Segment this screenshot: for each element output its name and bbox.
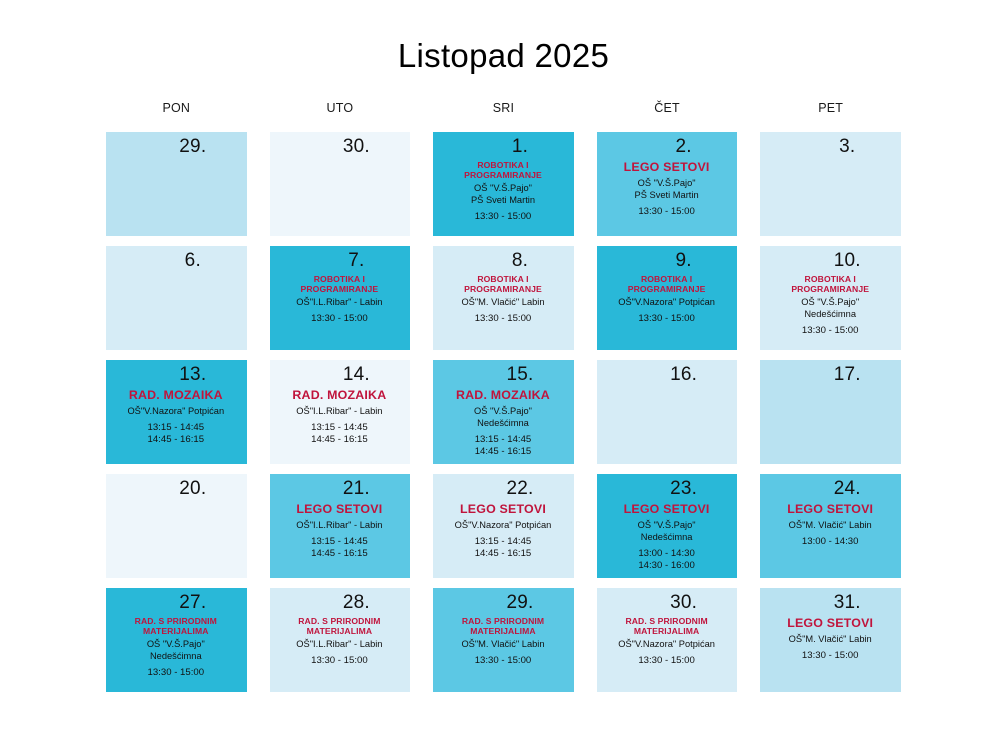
page-title: Listopad 2025	[0, 0, 1007, 74]
day-number: 28.	[276, 591, 404, 615]
event-location: OŠ"V.Nazora" Potpićan	[603, 638, 731, 650]
event-time: 13:30 - 15:00	[276, 313, 404, 326]
weekday-header-čet: ČET	[597, 101, 738, 122]
event-time: 14:45 - 16:15	[439, 446, 567, 459]
weekday-header-sri: SRI	[433, 101, 574, 122]
day-number: 29.	[439, 591, 567, 615]
event-location: OŠ"V.Nazora" Potpićan	[112, 405, 240, 417]
event-body: RAD. MOZAIKAOŠ"I.L.Ribar" - Labin13:15 -…	[276, 388, 404, 447]
event-time: 14:45 - 16:15	[276, 434, 404, 447]
event-body: ROBOTIKA I PROGRAMIRANJEOŠ"V.Nazora" Pot…	[603, 274, 731, 326]
day-number: 10.	[766, 249, 894, 273]
day-cell[interactable]: 13.RAD. MOZAIKAOŠ"V.Nazora" Potpićan13:1…	[106, 360, 247, 464]
event-location: OŠ "V.Š.Pajo" Nedešćimna	[112, 638, 240, 662]
day-number: 21.	[276, 477, 404, 501]
event-times: 13:00 - 14:30	[766, 536, 894, 549]
event-time: 13:30 - 15:00	[603, 206, 731, 219]
event-title: LEGO SETOVI	[766, 502, 894, 517]
event-times: 13:15 - 14:4514:45 - 16:15	[112, 422, 240, 447]
day-cell[interactable]: 29.	[106, 132, 247, 236]
weekday-header-pet: PET	[760, 101, 901, 122]
day-cell[interactable]: 27.RAD. S PRIRODNIM MATERIJALIMAOŠ "V.Š.…	[106, 588, 247, 692]
event-time: 14:30 - 16:00	[603, 560, 731, 573]
event-location: OŠ"M. Vlačić" Labin	[766, 519, 894, 531]
day-number: 3.	[766, 135, 894, 159]
event-times: 13:00 - 14:3014:30 - 16:00	[603, 548, 731, 573]
day-cell[interactable]: 17.	[760, 360, 901, 464]
event-times: 13:30 - 15:00	[439, 655, 567, 668]
event-time: 14:45 - 16:15	[276, 548, 404, 561]
event-time: 13:15 - 14:45	[276, 422, 404, 435]
event-time: 13:30 - 15:00	[276, 655, 404, 668]
day-number: 9.	[603, 249, 731, 273]
event-time: 13:30 - 15:00	[766, 325, 894, 338]
day-cell[interactable]: 24.LEGO SETOVIOŠ"M. Vlačić" Labin13:00 -…	[760, 474, 901, 578]
event-location: OŠ"I.L.Ribar" - Labin	[276, 519, 404, 531]
event-body: LEGO SETOVIOŠ"M. Vlačić" Labin13:30 - 15…	[766, 616, 894, 662]
event-location: OŠ"V.Nazora" Potpićan	[439, 519, 567, 531]
day-number: 14.	[276, 363, 404, 387]
event-body: ROBOTIKA I PROGRAMIRANJEOŠ"M. Vlačić" La…	[439, 274, 567, 326]
day-cell[interactable]: 1.ROBOTIKA I PROGRAMIRANJEOŠ "V.Š.Pajo" …	[433, 132, 574, 236]
day-number: 6.	[112, 249, 240, 273]
event-title: LEGO SETOVI	[603, 502, 731, 517]
day-cell[interactable]: 30.	[270, 132, 411, 236]
day-cell[interactable]: 29.RAD. S PRIRODNIM MATERIJALIMAOŠ"M. Vl…	[433, 588, 574, 692]
calendar-page: Listopad 2025 PONUTOSRIČETPET29.30.1.ROB…	[0, 0, 1007, 739]
event-times: 13:30 - 15:00	[603, 313, 731, 326]
event-times: 13:15 - 14:4514:45 - 16:15	[439, 536, 567, 561]
day-number: 16.	[603, 363, 731, 387]
event-time: 13:15 - 14:45	[112, 422, 240, 435]
event-body: LEGO SETOVIOŠ"I.L.Ribar" - Labin13:15 - …	[276, 502, 404, 561]
day-number: 17.	[766, 363, 894, 387]
day-number: 2.	[603, 135, 731, 159]
event-body: ROBOTIKA I PROGRAMIRANJEOŠ "V.Š.Pajo" Ne…	[766, 274, 894, 338]
day-cell[interactable]: 8.ROBOTIKA I PROGRAMIRANJEOŠ"M. Vlačić" …	[433, 246, 574, 350]
event-location: OŠ"I.L.Ribar" - Labin	[276, 296, 404, 308]
event-location: OŠ"M. Vlačić" Labin	[439, 296, 567, 308]
event-location: OŠ"I.L.Ribar" - Labin	[276, 405, 404, 417]
event-time: 13:30 - 15:00	[603, 313, 731, 326]
event-time: 13:30 - 15:00	[112, 667, 240, 680]
event-body: RAD. S PRIRODNIM MATERIJALIMAOŠ"I.L.Riba…	[276, 616, 404, 668]
event-title: RAD. MOZAIKA	[439, 388, 567, 403]
day-cell[interactable]: 9.ROBOTIKA I PROGRAMIRANJEOŠ"V.Nazora" P…	[597, 246, 738, 350]
day-number: 30.	[276, 135, 404, 159]
calendar-grid: PONUTOSRIČETPET29.30.1.ROBOTIKA I PROGRA…	[106, 101, 901, 692]
event-body: LEGO SETOVIOŠ "V.Š.Pajo" PŠ Sveti Martin…	[603, 160, 731, 218]
event-time: 13:30 - 15:00	[439, 655, 567, 668]
event-times: 13:30 - 15:00	[276, 655, 404, 668]
event-time: 13:15 - 14:45	[439, 434, 567, 447]
event-location: OŠ "V.Š.Pajo" PŠ Sveti Martin	[439, 182, 567, 206]
day-number: 30.	[603, 591, 731, 615]
event-times: 13:30 - 15:00	[603, 655, 731, 668]
event-body: ROBOTIKA I PROGRAMIRANJEOŠ "V.Š.Pajo" PŠ…	[439, 160, 567, 224]
event-time: 13:15 - 14:45	[439, 536, 567, 549]
day-cell[interactable]: 30.RAD. S PRIRODNIM MATERIJALIMAOŠ"V.Naz…	[597, 588, 738, 692]
event-times: 13:30 - 15:00	[439, 313, 567, 326]
event-location: OŠ"M. Vlačić" Labin	[439, 638, 567, 650]
event-times: 13:15 - 14:4514:45 - 16:15	[439, 434, 567, 459]
event-location: OŠ "V.Š.Pajo" Nedešćimna	[603, 519, 731, 543]
day-cell[interactable]: 20.	[106, 474, 247, 578]
event-body: RAD. MOZAIKAOŠ "V.Š.Pajo" Nedešćimna13:1…	[439, 388, 567, 459]
event-title: RAD. S PRIRODNIM MATERIJALIMA	[603, 616, 731, 636]
event-times: 13:30 - 15:00	[112, 667, 240, 680]
day-cell[interactable]: 6.	[106, 246, 247, 350]
event-title: ROBOTIKA I PROGRAMIRANJE	[603, 274, 731, 294]
event-time: 13:15 - 14:45	[276, 536, 404, 549]
day-cell[interactable]: 10.ROBOTIKA I PROGRAMIRANJEOŠ "V.Š.Pajo"…	[760, 246, 901, 350]
event-times: 13:30 - 15:00	[603, 206, 731, 219]
weekday-header-pon: PON	[106, 101, 247, 122]
event-title: RAD. S PRIRODNIM MATERIJALIMA	[276, 616, 404, 636]
event-body: LEGO SETOVIOŠ"M. Vlačić" Labin13:00 - 14…	[766, 502, 894, 548]
event-time: 14:45 - 16:15	[439, 548, 567, 561]
day-number: 15.	[439, 363, 567, 387]
event-body: LEGO SETOVIOŠ"V.Nazora" Potpićan13:15 - …	[439, 502, 567, 561]
event-times: 13:30 - 15:00	[766, 325, 894, 338]
day-cell[interactable]: 14.RAD. MOZAIKAOŠ"I.L.Ribar" - Labin13:1…	[270, 360, 411, 464]
event-times: 13:30 - 15:00	[276, 313, 404, 326]
event-title: LEGO SETOVI	[276, 502, 404, 517]
day-number: 8.	[439, 249, 567, 273]
event-location: OŠ "V.Š.Pajo" Nedešćimna	[439, 405, 567, 429]
event-time: 13:00 - 14:30	[603, 548, 731, 561]
day-number: 22.	[439, 477, 567, 501]
event-body: RAD. S PRIRODNIM MATERIJALIMAOŠ "V.Š.Paj…	[112, 616, 240, 680]
day-cell[interactable]: 21.LEGO SETOVIOŠ"I.L.Ribar" - Labin13:15…	[270, 474, 411, 578]
event-times: 13:30 - 15:00	[766, 650, 894, 663]
day-number: 29.	[112, 135, 240, 159]
event-title: LEGO SETOVI	[603, 160, 731, 175]
event-title: RAD. S PRIRODNIM MATERIJALIMA	[112, 616, 240, 636]
event-title: RAD. S PRIRODNIM MATERIJALIMA	[439, 616, 567, 636]
day-number: 7.	[276, 249, 404, 273]
event-time: 13:30 - 15:00	[766, 650, 894, 663]
day-number: 31.	[766, 591, 894, 615]
event-title: ROBOTIKA I PROGRAMIRANJE	[439, 274, 567, 294]
event-location: OŠ"V.Nazora" Potpićan	[603, 296, 731, 308]
event-title: ROBOTIKA I PROGRAMIRANJE	[276, 274, 404, 294]
event-time: 13:30 - 15:00	[439, 211, 567, 224]
day-cell[interactable]: 2.LEGO SETOVIOŠ "V.Š.Pajo" PŠ Sveti Mart…	[597, 132, 738, 236]
day-cell[interactable]: 16.	[597, 360, 738, 464]
event-body: ROBOTIKA I PROGRAMIRANJEOŠ"I.L.Ribar" - …	[276, 274, 404, 326]
event-time: 13:30 - 15:00	[439, 313, 567, 326]
day-number: 20.	[112, 477, 240, 501]
day-cell[interactable]: 3.	[760, 132, 901, 236]
weekday-header-uto: UTO	[270, 101, 411, 122]
day-number: 27.	[112, 591, 240, 615]
event-body: RAD. S PRIRODNIM MATERIJALIMAOŠ"M. Vlači…	[439, 616, 567, 668]
day-number: 1.	[439, 135, 567, 159]
event-body: LEGO SETOVIOŠ "V.Š.Pajo" Nedešćimna13:00…	[603, 502, 731, 573]
day-number: 24.	[766, 477, 894, 501]
day-number: 13.	[112, 363, 240, 387]
event-title: ROBOTIKA I PROGRAMIRANJE	[766, 274, 894, 294]
day-cell[interactable]: 23.LEGO SETOVIOŠ "V.Š.Pajo" Nedešćimna13…	[597, 474, 738, 578]
event-title: RAD. MOZAIKA	[112, 388, 240, 403]
event-location: OŠ "V.Š.Pajo" Nedešćimna	[766, 296, 894, 320]
event-time: 13:00 - 14:30	[766, 536, 894, 549]
event-time: 13:30 - 15:00	[603, 655, 731, 668]
event-title: RAD. MOZAIKA	[276, 388, 404, 403]
day-cell[interactable]: 31.LEGO SETOVIOŠ"M. Vlačić" Labin13:30 -…	[760, 588, 901, 692]
event-times: 13:15 - 14:4514:45 - 16:15	[276, 536, 404, 561]
event-location: OŠ"M. Vlačić" Labin	[766, 633, 894, 645]
day-cell[interactable]: 22.LEGO SETOVIOŠ"V.Nazora" Potpićan13:15…	[433, 474, 574, 578]
event-title: LEGO SETOVI	[766, 616, 894, 631]
day-number: 23.	[603, 477, 731, 501]
day-cell[interactable]: 15.RAD. MOZAIKAOŠ "V.Š.Pajo" Nedešćimna1…	[433, 360, 574, 464]
day-cell[interactable]: 7.ROBOTIKA I PROGRAMIRANJEOŠ"I.L.Ribar" …	[270, 246, 411, 350]
event-title: ROBOTIKA I PROGRAMIRANJE	[439, 160, 567, 180]
event-title: LEGO SETOVI	[439, 502, 567, 517]
event-body: RAD. MOZAIKAOŠ"V.Nazora" Potpićan13:15 -…	[112, 388, 240, 447]
event-location: OŠ"I.L.Ribar" - Labin	[276, 638, 404, 650]
event-times: 13:30 - 15:00	[439, 211, 567, 224]
event-location: OŠ "V.Š.Pajo" PŠ Sveti Martin	[603, 177, 731, 201]
event-times: 13:15 - 14:4514:45 - 16:15	[276, 422, 404, 447]
event-body: RAD. S PRIRODNIM MATERIJALIMAOŠ"V.Nazora…	[603, 616, 731, 668]
day-cell[interactable]: 28.RAD. S PRIRODNIM MATERIJALIMAOŠ"I.L.R…	[270, 588, 411, 692]
event-time: 14:45 - 16:15	[112, 434, 240, 447]
